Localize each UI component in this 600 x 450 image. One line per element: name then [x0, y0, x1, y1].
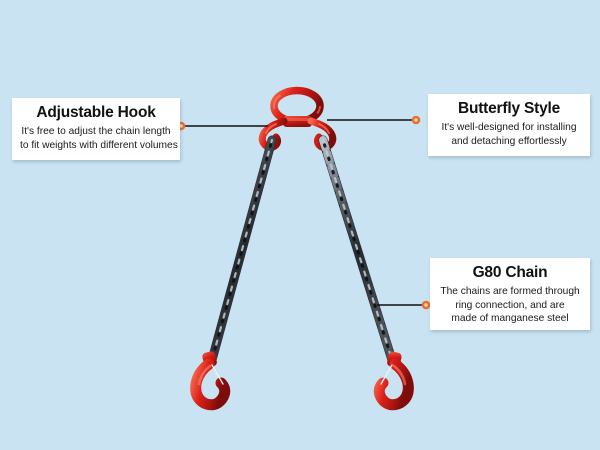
chain-leg-left [212, 140, 272, 360]
callout-g80-chain: G80 Chain The chains are formed through … [430, 258, 590, 330]
chain-leg-right [323, 140, 392, 360]
callout-title: Butterfly Style [436, 100, 582, 118]
callout-body: The chains are formed through ring conne… [438, 285, 582, 326]
callout-butterfly-style: Butterfly Style It's well-designed for i… [428, 94, 590, 156]
callout-body: It's free to adjust the chain length to … [20, 125, 172, 153]
callout-body-line: ring connection, and are [438, 299, 582, 313]
callout-body-line: It's free to adjust the chain length [20, 125, 172, 139]
callout-body-line: to fit weights with different volumes [20, 139, 172, 153]
callout-body-line: and detaching effortlessly [436, 135, 582, 149]
sling-hook-left [196, 351, 225, 405]
callout-body: It's well-designed for installing and de… [436, 121, 582, 149]
callout-body-line: It's well-designed for installing [436, 121, 582, 135]
callout-adjustable-hook: Adjustable Hook It's free to adjust the … [12, 98, 180, 160]
callout-title: Adjustable Hook [20, 104, 172, 122]
product-illustration [0, 0, 600, 450]
callout-body-line: made of manganese steel [438, 312, 582, 326]
callout-title: G80 Chain [438, 264, 582, 282]
sling-hook-right [379, 351, 408, 405]
callout-body-line: The chains are formed through [438, 285, 582, 299]
infographic-canvas: Adjustable Hook It's free to adjust the … [0, 0, 600, 450]
